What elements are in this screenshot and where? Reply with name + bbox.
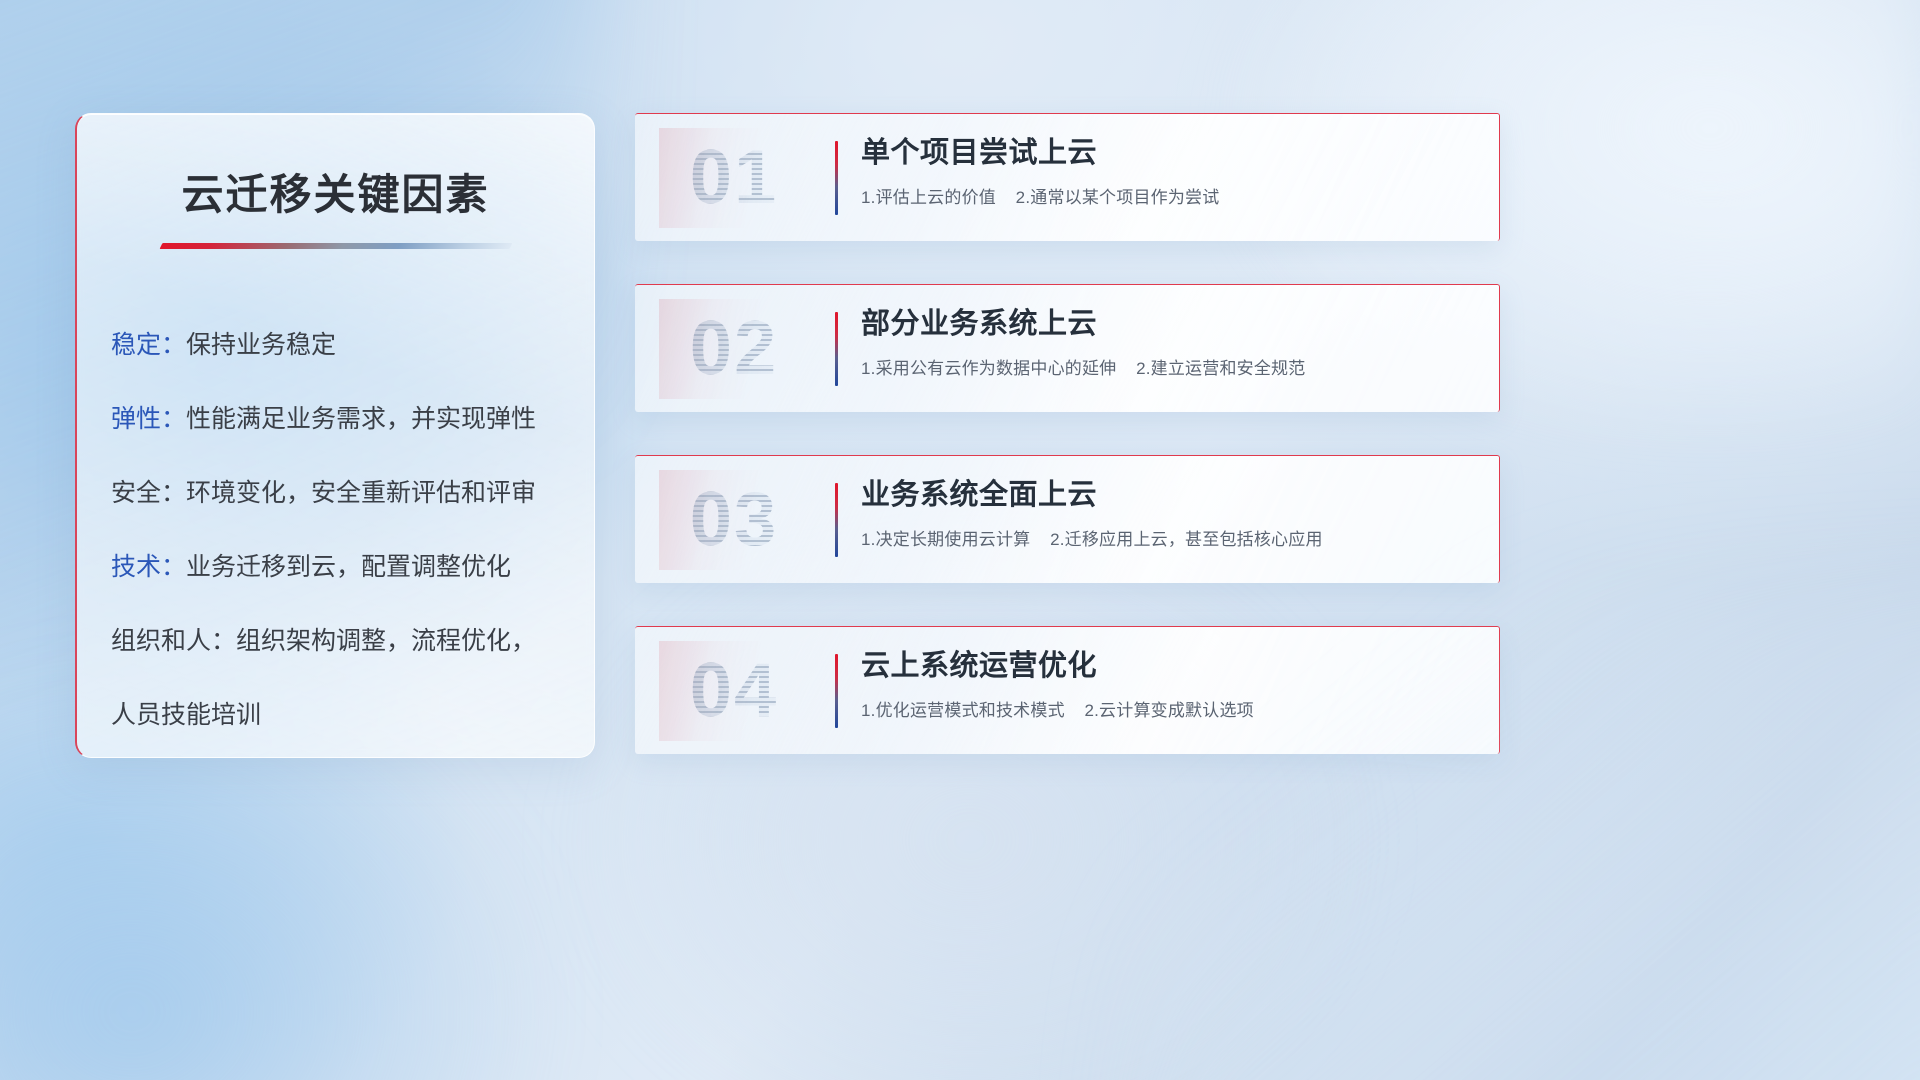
card-body: 云上系统运营优化 1.优化运营模式和技术模式 2.云计算变成默认选项 [861,649,1475,721]
card-title: 云上系统运营优化 [861,649,1475,684]
list-item: 组织和人：组织架构调整，流程优化， [111,629,594,654]
factor-label: 稳定： [111,331,186,359]
page-title: 云迁移关键因素 [77,161,594,222]
list-item: 安全：环境变化，安全重新评估和评审 [111,481,594,506]
migration-stage-cards: 01 单个项目尝试上云 1.评估上云的价值 2.通常以某个项目作为尝试 02 部… [635,113,1500,754]
factor-text: 人员技能培训 [111,701,261,729]
card-description: 1.采用公有云作为数据中心的延伸 2.建立运营和安全规范 [861,354,1475,379]
list-item: 技术：业务迁移到云，配置调整优化 [111,555,594,580]
card-body: 部分业务系统上云 1.采用公有云作为数据中心的延伸 2.建立运营和安全规范 [861,307,1475,379]
card-description: 1.评估上云的价值 2.通常以某个项目作为尝试 [861,183,1475,208]
list-item: 弹性：性能满足业务需求，并实现弹性 [111,407,594,432]
factor-text: 性能满足业务需求，并实现弹性 [186,405,536,433]
card-title: 业务系统全面上云 [861,478,1475,513]
factor-text: 环境变化，安全重新评估和评审 [186,479,536,507]
stage-card[interactable]: 01 单个项目尝试上云 1.评估上云的价值 2.通常以某个项目作为尝试 [635,113,1500,241]
list-item: 人员技能培训 [111,703,594,728]
factor-text: 业务迁移到云，配置调整优化 [186,553,511,581]
card-accent-bar [835,141,838,215]
slide-canvas: 云迁移关键因素 稳定：保持业务稳定 弹性：性能满足业务需求，并实现弹性 安全：环… [0,0,1920,1080]
stage-card[interactable]: 04 云上系统运营优化 1.优化运营模式和技术模式 2.云计算变成默认选项 [635,626,1500,754]
stage-number: 04 [659,641,809,741]
list-item: 稳定：保持业务稳定 [111,333,594,358]
factor-text: 保持业务稳定 [186,331,336,359]
card-body: 业务系统全面上云 1.决定长期使用云计算 2.迁移应用上云，甚至包括核心应用 [861,478,1475,550]
factor-label: 安全： [111,479,186,507]
factor-label: 弹性： [111,405,186,433]
card-description: 1.决定长期使用云计算 2.迁移应用上云，甚至包括核心应用 [861,525,1475,550]
title-underline-accent [159,243,512,249]
factor-label: 组织和人： [111,627,236,655]
card-description: 1.优化运营模式和技术模式 2.云计算变成默认选项 [861,696,1475,721]
card-title: 部分业务系统上云 [861,307,1475,342]
factor-text: 组织架构调整，流程优化， [236,627,536,655]
card-accent-bar [835,312,838,386]
card-accent-bar [835,654,838,728]
stage-card[interactable]: 02 部分业务系统上云 1.采用公有云作为数据中心的延伸 2.建立运营和安全规范 [635,284,1500,412]
stage-number: 01 [659,128,809,228]
card-accent-bar [835,483,838,557]
stage-number: 03 [659,470,809,570]
card-title: 单个项目尝试上云 [861,136,1475,171]
factor-label: 技术： [111,553,186,581]
key-factors-list: 稳定：保持业务稳定 弹性：性能满足业务需求，并实现弹性 安全：环境变化，安全重新… [111,333,594,728]
stage-number: 02 [659,299,809,399]
card-body: 单个项目尝试上云 1.评估上云的价值 2.通常以某个项目作为尝试 [861,136,1475,208]
key-factors-panel: 云迁移关键因素 稳定：保持业务稳定 弹性：性能满足业务需求，并实现弹性 安全：环… [75,113,595,758]
stage-card[interactable]: 03 业务系统全面上云 1.决定长期使用云计算 2.迁移应用上云，甚至包括核心应… [635,455,1500,583]
